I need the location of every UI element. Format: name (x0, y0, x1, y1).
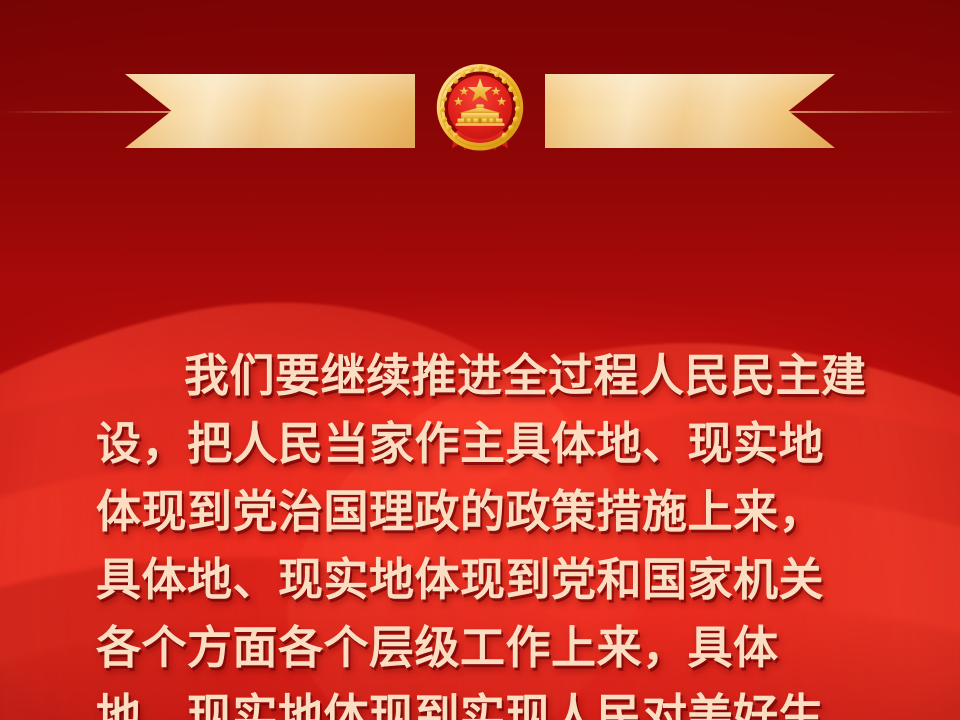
quote-block: 我们要继续推进全过程人民民主建设，把人民当家作主具体地、现实地体现到党治国理政的… (96, 206, 868, 720)
national-emblem-icon (433, 62, 527, 160)
banner-sheen (545, 74, 835, 148)
banner-tail-right (545, 74, 835, 148)
quote-body-text: 我们要继续推进全过程人民民主建设，把人民当家作主具体地、现实地体现到党治国理政的… (96, 342, 868, 720)
banner-sheen (125, 74, 415, 148)
banner-tail-left (125, 74, 415, 148)
poster-canvas: 我们要继续推进全过程人民民主建设，把人民当家作主具体地、现实地体现到党治国理政的… (0, 0, 960, 720)
